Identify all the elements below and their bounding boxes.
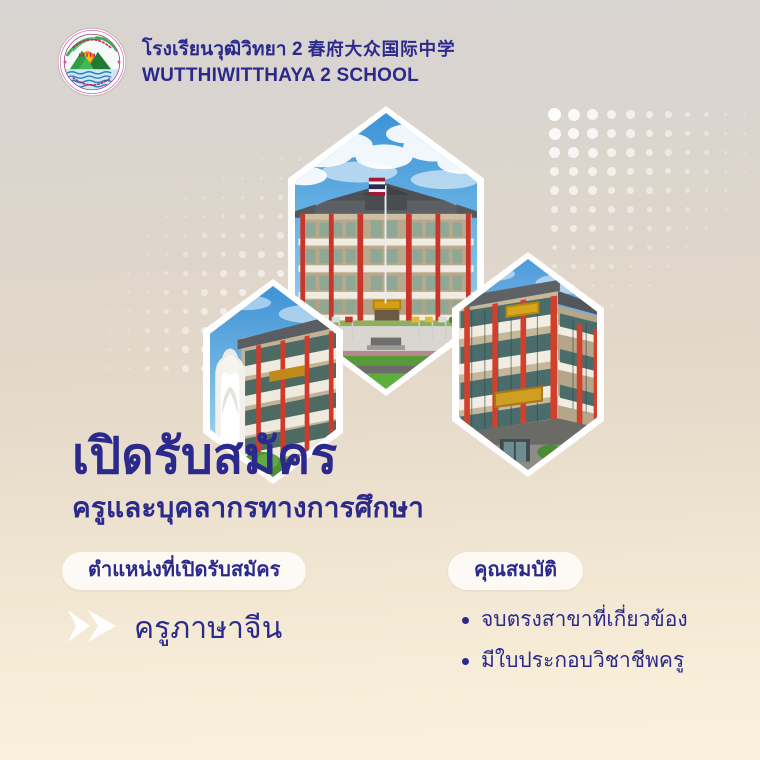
position-name: ครูภาษาจีน bbox=[134, 611, 282, 647]
recruitment-poster: โรงเรียนวุฒิวิทยา 2春府大众国际中学 WUTTHIWITTHA… bbox=[0, 0, 760, 760]
qualifications-column: คุณสมบัติ จบตรงสาขาที่เกี่ยวข้อง มีใบประ… bbox=[448, 552, 738, 689]
qualifications-list: จบตรงสาขาที่เกี่ยวข้อง มีใบประกอบวิชาชีพ… bbox=[448, 606, 738, 676]
page-title: เปิดรับสมัคร bbox=[72, 430, 424, 482]
qualifications-pill-label: คุณสมบัติ bbox=[448, 552, 583, 590]
positions-pill-label: ตำแหน่งที่เปิดรับสมัคร bbox=[62, 552, 306, 590]
bullet-dot-icon bbox=[462, 617, 469, 624]
school-name-thai-chinese: โรงเรียนวุฒิวิทยา 2春府大众国际中学 bbox=[142, 39, 456, 61]
school-building-angled-view bbox=[459, 259, 597, 470]
positions-column: ตำแหน่งที่เปิดรับสมัคร ครูภาษาจีน bbox=[62, 552, 422, 651]
headline-block: เปิดรับสมัคร ครูและบุคลากรทางการศึกษา bbox=[72, 430, 424, 524]
list-item: มีใบประกอบวิชาชีพครู bbox=[462, 647, 738, 675]
hexagon-photo-collage bbox=[0, 104, 760, 414]
qualification-text: มีใบประกอบวิชาชีพครู bbox=[481, 647, 684, 675]
list-item: จบตรงสาขาที่เกี่ยวข้อง bbox=[462, 606, 738, 634]
poster-header: โรงเรียนวุฒิวิทยา 2春府大众国际中学 WUTTHIWITTHA… bbox=[56, 26, 456, 98]
school-name-block: โรงเรียนวุฒิวิทยา 2春府大众国际中学 WUTTHIWITTHA… bbox=[142, 37, 456, 87]
qualification-text: จบตรงสาขาที่เกี่ยวข้อง bbox=[481, 606, 688, 634]
position-item: ครูภาษาจีน bbox=[62, 606, 422, 651]
double-chevron-right-icon bbox=[66, 606, 124, 651]
school-name-english: WUTTHIWITTHAYA 2 SCHOOL bbox=[142, 65, 456, 87]
school-name-thai: โรงเรียนวุฒิวิทยา 2 bbox=[142, 39, 303, 60]
school-name-chinese: 春府大众国际中学 bbox=[303, 40, 456, 60]
school-emblem-mountain-sun-water-icon bbox=[56, 26, 128, 98]
bullet-dot-icon bbox=[462, 658, 469, 665]
content-columns: ตำแหน่งที่เปิดรับสมัคร ครูภาษาจีน คุณสมบ… bbox=[0, 552, 760, 727]
page-subtitle: ครูและบุคลากรทางการศึกษา bbox=[72, 492, 424, 524]
